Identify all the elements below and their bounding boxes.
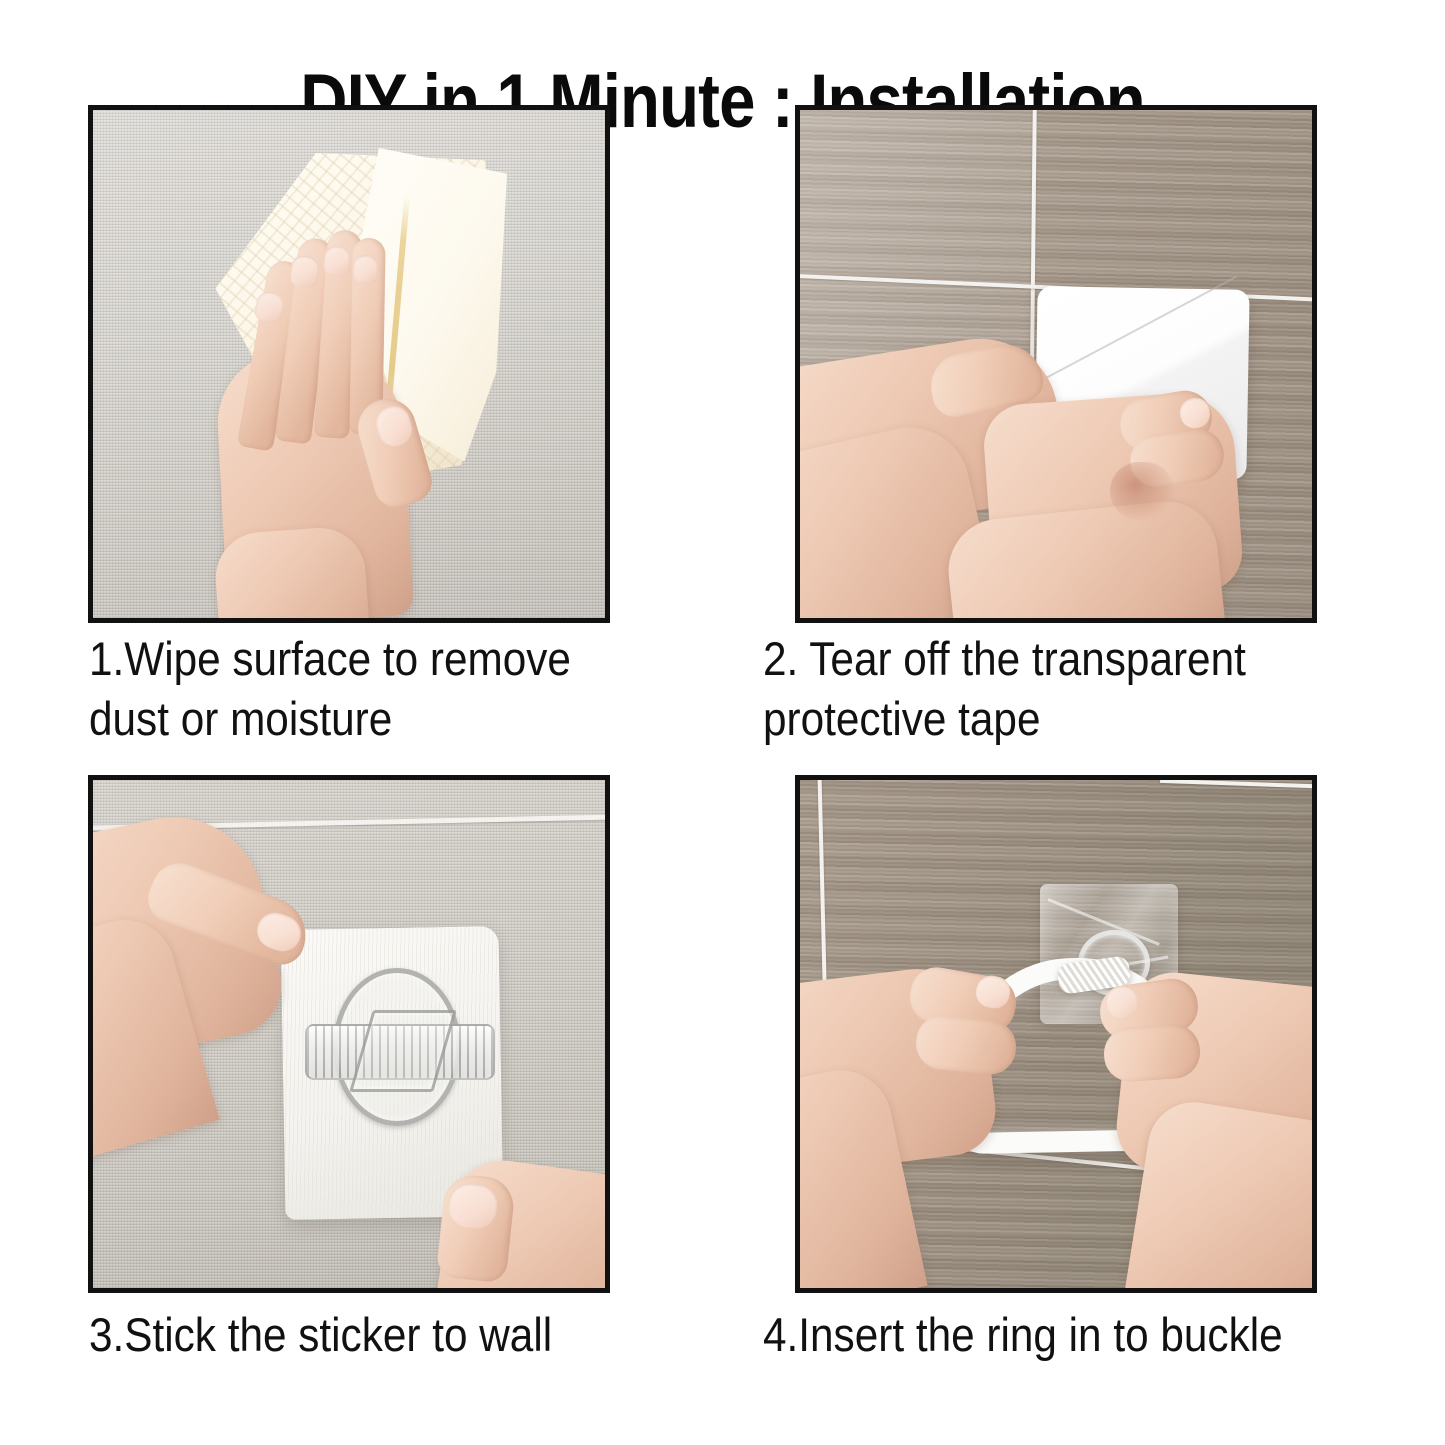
step-1-photo — [88, 105, 610, 623]
step-3-photo — [88, 775, 610, 1293]
fingernail-pinky — [353, 255, 378, 283]
fingernail-middle — [289, 254, 320, 288]
step-3-caption: 3.Stick the sticker to wall — [89, 1305, 665, 1365]
step-card-3: 3.Stick the sticker to wall — [88, 775, 799, 1405]
hand-right-knuckle-shadow — [1110, 462, 1174, 520]
forearm — [213, 525, 372, 618]
step-2-caption: 2. Tear off the transparent protective t… — [763, 629, 1339, 749]
fingernail-ring — [323, 245, 352, 277]
installation-steps-grid: 1.Wipe surface to remove dust or moistur… — [0, 105, 1445, 1435]
step-4-scene — [800, 780, 1312, 1288]
step-card-1: 1.Wipe surface to remove dust or moistur… — [88, 105, 799, 735]
step-2-photo — [795, 105, 1317, 623]
step-4-caption: 4.Insert the ring in to buckle — [763, 1305, 1339, 1365]
step-1-scene — [93, 110, 605, 618]
step-3-scene — [93, 780, 605, 1288]
step-1-caption: 1.Wipe surface to remove dust or moistur… — [89, 629, 665, 749]
step-4-photo — [795, 775, 1317, 1293]
step-2-scene — [800, 110, 1312, 618]
hand-right-middle — [1102, 1023, 1202, 1084]
step-card-2: 2. Tear off the transparent protective t… — [795, 105, 1445, 735]
step-card-4: 4.Insert the ring in to buckle — [795, 775, 1445, 1405]
